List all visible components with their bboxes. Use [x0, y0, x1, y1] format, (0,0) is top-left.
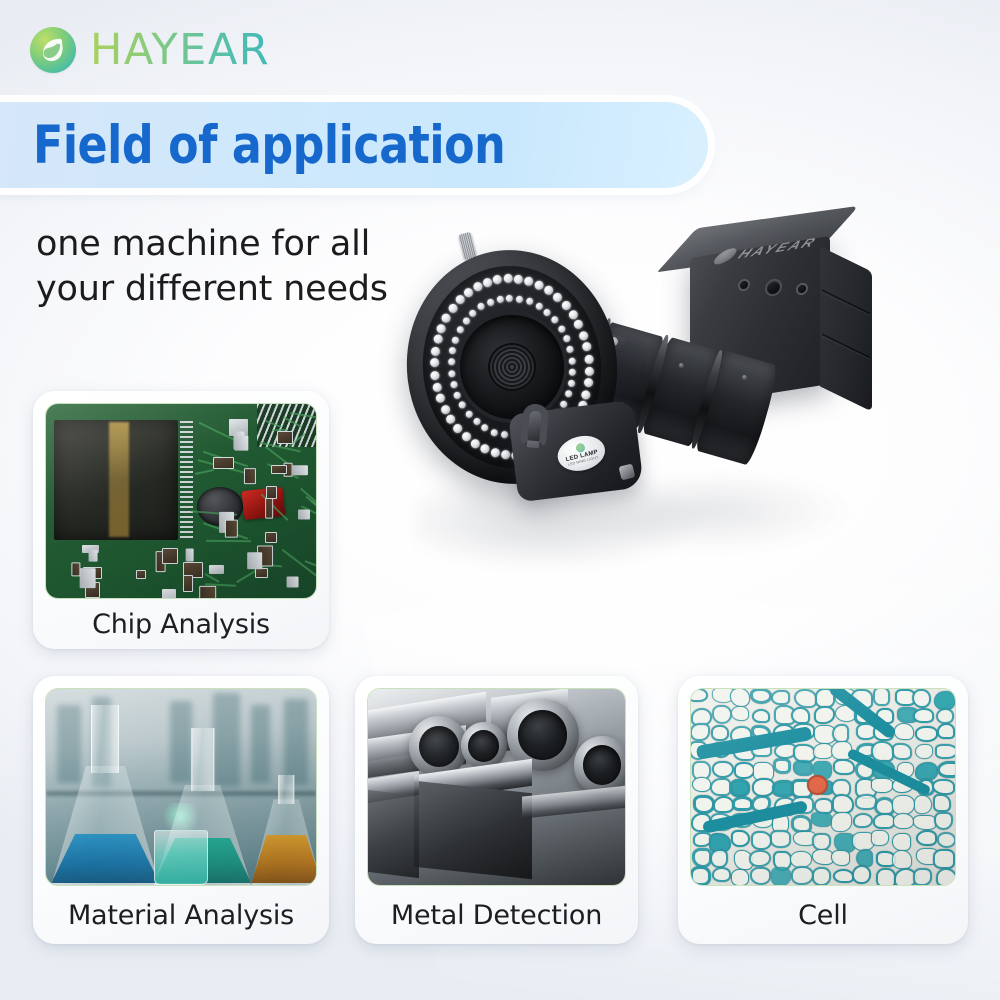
- led-bead: [544, 286, 554, 296]
- led-bead: [486, 298, 494, 306]
- plant-cell: [915, 744, 933, 759]
- plant-cell: [751, 831, 773, 850]
- plant-cell: [935, 744, 956, 759]
- pcb-component: [136, 570, 146, 579]
- lab-background-bottle: [251, 705, 270, 783]
- led-bead: [477, 303, 485, 311]
- led-bead: [500, 450, 510, 460]
- plant-cell: [871, 778, 893, 793]
- led-bead: [482, 278, 492, 288]
- led-bead: [433, 334, 443, 344]
- led-bead: [435, 394, 445, 404]
- plant-cell: [711, 725, 729, 741]
- pcb-component: [162, 589, 177, 599]
- plant-cell: [793, 760, 813, 776]
- ring-light-clamp: LED LAMP LED RING LIGHT: [508, 400, 644, 503]
- plant-cell: [773, 758, 791, 774]
- led-bead: [448, 369, 456, 377]
- plant-cell: [937, 832, 956, 848]
- brand-wordmark: HAYEAR: [90, 29, 270, 72]
- plant-cell: [812, 833, 832, 851]
- led-bead: [442, 313, 452, 323]
- led-bead: [568, 310, 578, 320]
- pcb-trace: [195, 469, 214, 475]
- plant-cell: [813, 743, 834, 758]
- led-lamp-badge: LED LAMP LED RING LIGHT: [554, 431, 609, 476]
- laboratory-flasks-photo: [45, 688, 317, 886]
- subheadline: one machine for all your different needs: [36, 222, 388, 312]
- pcb-component: [298, 509, 310, 519]
- led-bead: [535, 302, 543, 310]
- pcb-component: [235, 436, 249, 451]
- led-bead: [430, 346, 440, 356]
- led-bead: [481, 424, 489, 432]
- plant-cell: [873, 688, 891, 706]
- plant-cell: [730, 779, 750, 796]
- metal-artwork: [368, 689, 625, 885]
- plant-cell: [912, 689, 931, 709]
- application-card-cell[interactable]: Cell: [678, 676, 968, 944]
- led-bead: [516, 295, 524, 303]
- led-bead: [493, 275, 503, 285]
- led-bead: [461, 432, 471, 442]
- pcb-component: [72, 563, 81, 577]
- camera-side-face: [820, 246, 872, 411]
- led-bead: [526, 298, 534, 306]
- led-bead: [584, 378, 594, 388]
- led-bead: [551, 316, 559, 324]
- pcb-component: [209, 565, 224, 573]
- led-bead: [469, 309, 477, 317]
- plant-cell: [812, 867, 832, 886]
- led-bead: [430, 358, 440, 368]
- pcb-ic-pins: [180, 421, 194, 537]
- led-bead: [455, 295, 465, 305]
- plant-cell: [934, 812, 952, 830]
- led-bead: [453, 424, 463, 434]
- plant-cell: [915, 726, 938, 742]
- card-label-cell: Cell: [690, 886, 956, 944]
- product-reflection: [415, 475, 885, 625]
- plant-cell: [791, 866, 814, 885]
- pcb-component: [80, 568, 96, 588]
- plant-cell: [771, 690, 790, 705]
- plant-cell: [770, 830, 791, 847]
- page-title: Field of application: [33, 119, 505, 172]
- square-tube-face: [414, 781, 532, 880]
- plant-cell: [730, 688, 750, 707]
- pcb-component: [213, 457, 234, 470]
- subheadline-line-1: one machine for all: [36, 222, 388, 267]
- plant-cell: [893, 813, 914, 829]
- plant-cell: [913, 815, 936, 830]
- plant-cell: [690, 688, 708, 702]
- brand-header: HAYEAR: [30, 27, 270, 73]
- led-bead: [448, 303, 458, 313]
- led-bead: [506, 294, 514, 302]
- plant-cell: [936, 708, 954, 724]
- plant-cell: [752, 709, 770, 724]
- plant-cell: [833, 869, 854, 884]
- led-bead: [449, 347, 457, 355]
- square-tube-face: [368, 790, 419, 879]
- led-bead: [579, 331, 589, 341]
- pcb-component: [287, 576, 299, 587]
- plant-cell: [933, 849, 956, 869]
- led-bead: [585, 366, 595, 376]
- led-bead: [574, 320, 584, 330]
- pcb-component: [266, 486, 278, 499]
- marketing-page: HAYEAR Field of application one machine …: [0, 0, 1000, 1000]
- square-tube-top: [522, 785, 626, 818]
- pcb-red-capacitor: [242, 487, 285, 520]
- stained-cell-red: [807, 775, 828, 795]
- cell-artwork: [691, 689, 955, 885]
- led-bead: [491, 428, 499, 436]
- clamp-hook: [520, 403, 550, 449]
- led-bead: [465, 410, 473, 418]
- led-bead: [452, 336, 460, 344]
- plant-cell: [894, 723, 914, 740]
- plant-cell: [932, 779, 955, 795]
- led-bead: [503, 274, 513, 284]
- flask-body: [51, 766, 159, 885]
- section-banner: Field of application: [0, 102, 708, 188]
- led-bead: [543, 308, 551, 316]
- flask-neck: [279, 775, 294, 804]
- led-bead: [480, 444, 490, 454]
- plant-cell: [871, 830, 889, 845]
- plant-cell: [937, 761, 956, 778]
- flask-neck: [91, 705, 119, 774]
- led-bead: [564, 390, 572, 398]
- plant-cell: [732, 796, 754, 811]
- plant-cell-microscopy-photo: [690, 688, 956, 886]
- led-bead: [473, 282, 483, 292]
- flask-liquid: [51, 834, 159, 883]
- plant-cell: [731, 869, 749, 886]
- plant-cell: [913, 708, 935, 723]
- plant-cell: [892, 743, 913, 760]
- plant-cell: [692, 777, 711, 792]
- plant-cell: [914, 795, 933, 815]
- led-bead: [440, 404, 450, 414]
- pcb-component: [186, 548, 194, 561]
- pcb-artwork: [46, 404, 316, 598]
- pcb-component: [199, 586, 216, 599]
- plant-cell: [831, 850, 850, 866]
- pcb-component: [271, 465, 288, 474]
- plant-cell: [750, 688, 772, 704]
- plant-cell: [690, 723, 709, 741]
- plant-cell: [936, 868, 956, 886]
- plant-cell: [831, 812, 853, 832]
- led-bead: [496, 295, 504, 303]
- led-bead: [459, 401, 467, 409]
- pcb-component: [243, 468, 255, 484]
- flask-liquid: [251, 835, 317, 883]
- led-bead: [553, 292, 563, 302]
- led-bead: [448, 358, 456, 366]
- pcb-ic-chip: [54, 420, 178, 540]
- led-bead: [470, 438, 480, 448]
- plant-cell: [811, 812, 831, 827]
- led-bead: [561, 300, 571, 310]
- led-bead: [566, 346, 574, 354]
- led-bead: [524, 277, 534, 287]
- flask-body: [251, 799, 317, 885]
- pcb-component: [183, 575, 193, 592]
- plant-cell: [712, 761, 733, 779]
- application-card-metal[interactable]: Metal Detection: [355, 676, 638, 944]
- plant-cell: [713, 796, 734, 814]
- plant-cell: [734, 762, 755, 779]
- card-label-chip: Chip Analysis: [45, 599, 317, 649]
- plant-cell: [712, 705, 732, 724]
- pcb-trace: [204, 573, 219, 583]
- application-card-material[interactable]: Material Analysis: [33, 676, 329, 944]
- led-bead: [462, 317, 470, 325]
- led-bead: [456, 326, 464, 334]
- led-bead: [432, 382, 442, 392]
- product-photo: HAYEAR: [395, 225, 905, 675]
- led-bead: [534, 280, 544, 290]
- led-bead: [500, 431, 508, 439]
- plant-cell: [749, 850, 771, 868]
- plant-cell: [794, 689, 817, 708]
- plant-cell: [731, 830, 750, 847]
- plant-cell: [690, 866, 711, 885]
- plant-cell: [852, 865, 871, 883]
- hayear-leaf-logo-icon: [30, 27, 76, 73]
- led-bead: [557, 325, 565, 333]
- led-bead: [490, 447, 500, 457]
- plant-cell: [833, 759, 855, 775]
- plant-cell: [832, 794, 853, 813]
- pcb-component: [292, 465, 308, 475]
- lab-background-bottle: [284, 699, 308, 785]
- plant-cell: [750, 867, 771, 885]
- plant-cell: [933, 794, 951, 811]
- plant-cell: [856, 849, 874, 867]
- led-bead: [437, 323, 447, 333]
- clamp-bolt: [618, 463, 635, 480]
- application-card-chip[interactable]: Chip Analysis: [33, 391, 329, 649]
- led-bead: [568, 357, 576, 365]
- lab-flask: [51, 705, 159, 885]
- pcb-component: [265, 532, 277, 542]
- led-bead: [454, 391, 462, 399]
- plant-cell: [791, 707, 810, 725]
- plant-cell: [892, 850, 911, 869]
- pcb-component: [246, 552, 261, 569]
- led-bead: [473, 418, 481, 426]
- led-bead: [514, 274, 524, 284]
- led-bead: [446, 415, 456, 425]
- led-bead: [569, 368, 577, 376]
- plant-cell: [693, 795, 714, 813]
- led-bead: [430, 370, 440, 380]
- plant-cell: [892, 795, 915, 815]
- led-bead: [581, 390, 591, 400]
- pcb-component: [162, 548, 178, 564]
- plant-cell: [892, 833, 911, 851]
- plant-cell: [916, 830, 937, 846]
- subheadline-line-2: your different needs: [36, 267, 388, 312]
- pcb-circuit-board-photo: [45, 403, 317, 599]
- lab-beaker: [154, 830, 208, 885]
- plant-cell: [876, 868, 896, 886]
- card-label-material: Material Analysis: [45, 886, 317, 944]
- plant-cell: [771, 867, 791, 886]
- led-bead: [584, 354, 594, 364]
- ring-light-thread: [486, 341, 539, 394]
- pcb-trace: [206, 540, 251, 543]
- pcb-component: [266, 498, 274, 519]
- plant-cell: [814, 706, 835, 724]
- led-bead: [463, 288, 473, 298]
- lab-flask: [251, 775, 317, 885]
- led-bead: [563, 335, 571, 343]
- led-bead: [582, 342, 592, 352]
- plant-cell: [710, 849, 728, 869]
- pcb-component: [89, 550, 98, 562]
- card-label-metal: Metal Detection: [367, 886, 626, 944]
- pcb-component: [255, 568, 268, 577]
- plant-cell: [913, 868, 932, 886]
- plant-cell: [712, 867, 731, 882]
- plant-cell: [853, 813, 873, 828]
- steel-pipes-photo: [367, 688, 626, 886]
- led-bead: [450, 381, 458, 389]
- plant-cell: [937, 723, 955, 739]
- plant-cell: [710, 778, 730, 796]
- led-bead: [567, 379, 575, 387]
- plant-cell: [731, 706, 749, 721]
- lab-artwork: [46, 689, 316, 885]
- flask-neck: [191, 728, 214, 791]
- pcb-component: [277, 431, 293, 444]
- pcb-component: [224, 520, 237, 538]
